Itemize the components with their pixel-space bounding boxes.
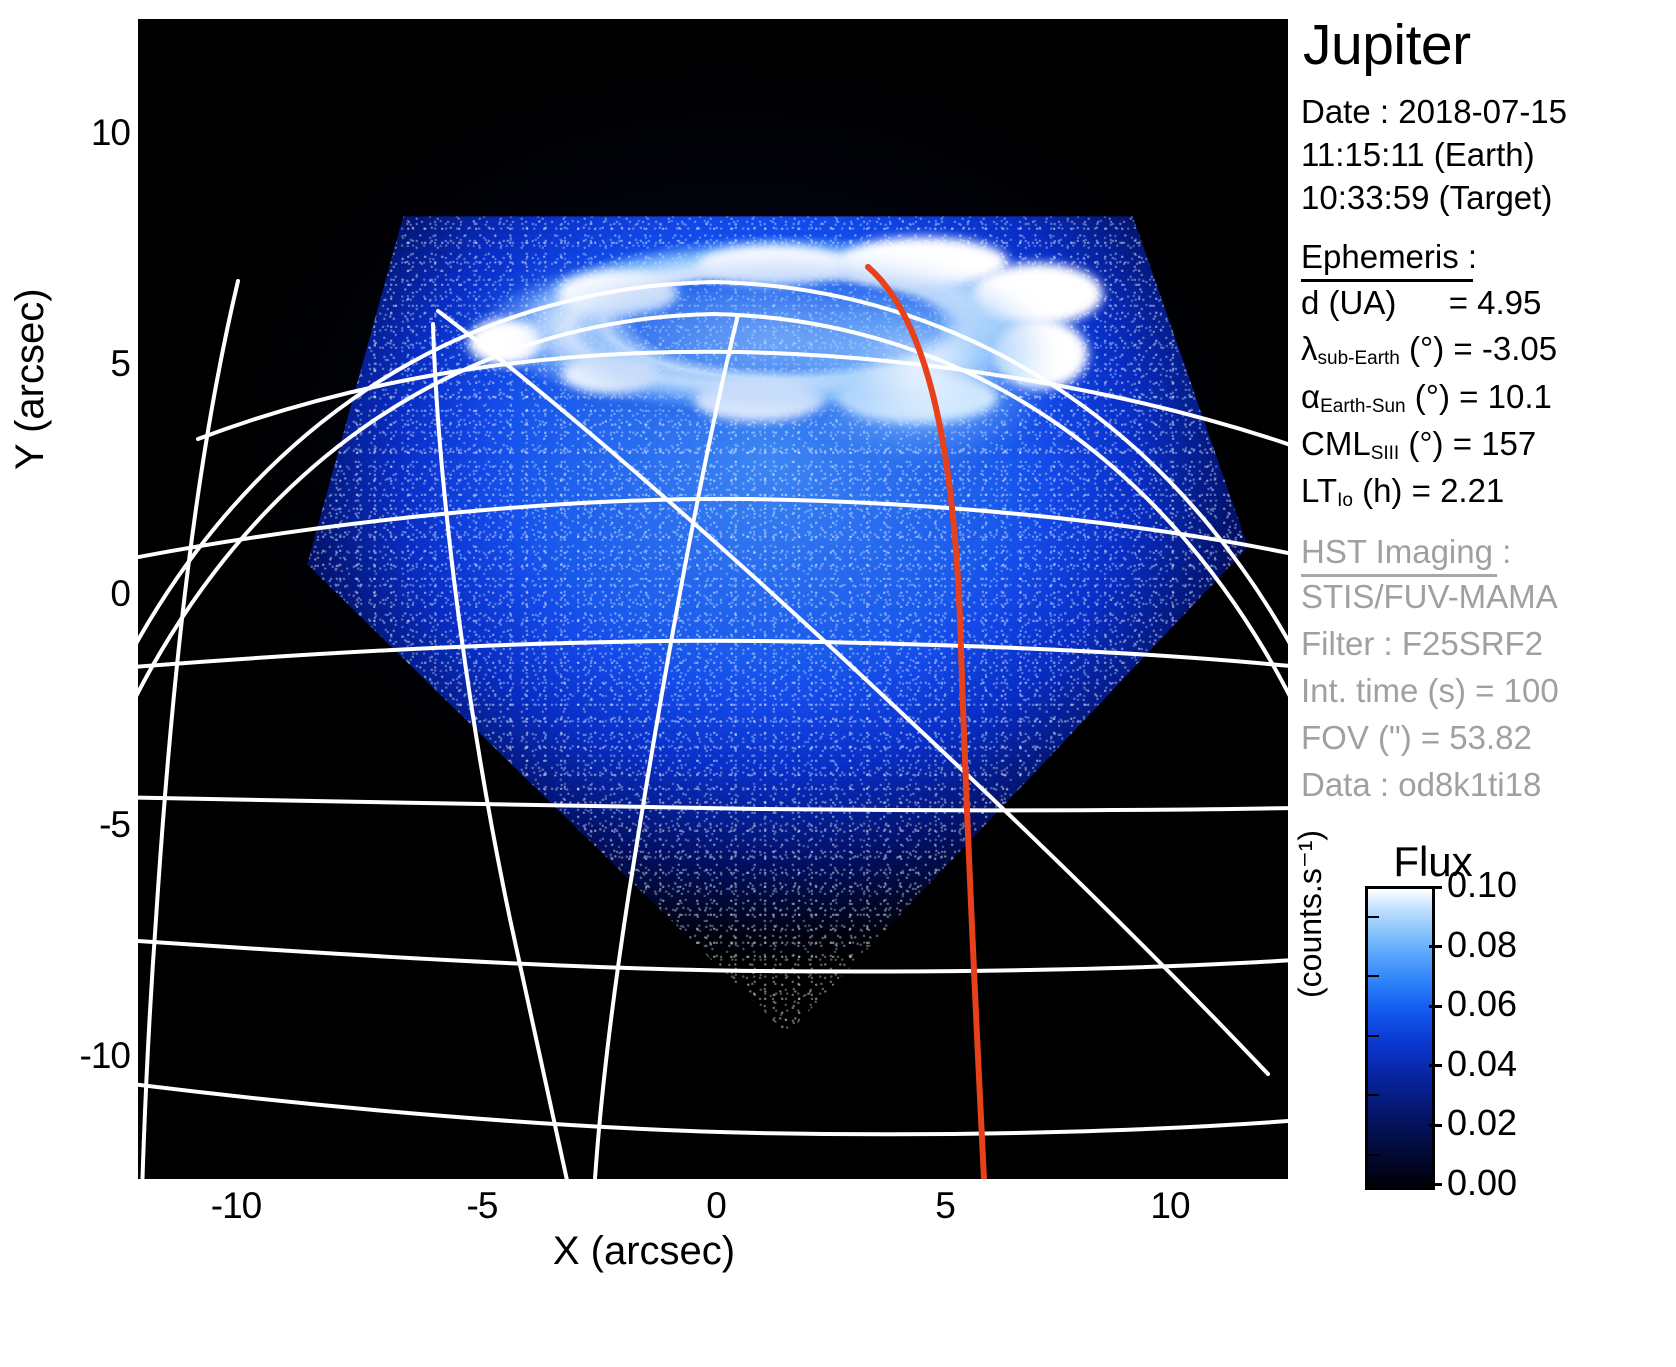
observation-time-earth: 11:15:11 (Earth) [1301,136,1535,174]
ephemeris-sep-alpha: = [1459,378,1478,415]
colorbar-minor-tick [1368,1094,1379,1096]
colorbar-tick-label: 0.06 [1447,983,1517,1025]
ephemeris-row-cml: CMLSIII (°) = 157 [1301,425,1536,465]
colorbar-tick [1429,886,1442,889]
x-tick-label: -10 [196,1185,276,1227]
x-tick-label: 0 [686,1185,746,1227]
x-tick-label: 5 [915,1185,975,1227]
ephemeris-value-cml: 157 [1481,425,1536,462]
ephemeris-sep-cml: = [1453,425,1472,462]
observation-time-target: 10:33:59 (Target) [1301,179,1552,217]
colorbar-minor-tick [1368,975,1379,977]
instrument-detector: STIS/FUV-MAMA [1301,578,1558,616]
y-tick-label: 5 [78,343,130,385]
colorbar-axis-title: (counts.s⁻¹) [1291,830,1329,998]
ephemeris-symbol-lt: LT [1301,472,1337,509]
ephemeris-value-d: 4.95 [1477,284,1541,321]
ephemeris-symbol-lambda: λ [1301,330,1318,367]
colorbar-minor-tick [1368,916,1379,918]
colorbar-tick [1429,945,1442,948]
ephemeris-sub-lt: Io [1337,490,1353,511]
ephemeris-heading: Ephemeris : [1301,238,1477,276]
ephemeris-value-alpha: 10.1 [1488,378,1552,415]
ephemeris-sub-alpha: Earth-Sun [1320,396,1406,417]
x-tick-label: -5 [447,1185,517,1227]
ephemeris-unit-lambda: (°) [1409,330,1444,367]
colorbar-tick-label: 0.00 [1447,1162,1517,1204]
colorbar-minor-tick [1368,1154,1379,1156]
colorbar-tick-label: 0.02 [1447,1102,1517,1144]
colorbar-gradient[interactable] [1365,886,1435,1190]
plot-image-area[interactable] [138,19,1288,1179]
instrument-rule [1301,574,1497,577]
ephemeris-symbol-cml: CML [1301,425,1371,462]
ephemeris-symbol-d: d [1301,284,1319,321]
ephemeris-rule [1301,279,1473,282]
ephemeris-unit-alpha: (°) [1415,378,1450,415]
instrument-integration-time: Int. time (s) = 100 [1301,672,1559,710]
observation-date: Date : 2018-07-15 [1301,93,1567,131]
ephemeris-sub-cml: SIII [1371,443,1400,464]
colorbar-tick-label: 0.04 [1447,1043,1517,1085]
ephemeris-sep-lambda: = [1453,330,1472,367]
x-axis-title: X (arcsec) [0,1229,1288,1274]
colorbar-tick [1429,1124,1442,1127]
y-tick-label: 10 [78,112,130,154]
colorbar-tick-label: 0.08 [1447,924,1517,966]
flux-colorbar-block: Flux (counts.s⁻¹) 0.10 0.08 0.06 0.04 0.… [1297,838,1676,1238]
instrument-heading: HST Imaging : [1301,533,1511,571]
ephemeris-row-lt: LTIo (h) = 2.21 [1301,472,1504,512]
instrument-fov: FOV (") = 53.82 [1301,719,1532,757]
ephemeris-unit-cml: (°) [1408,425,1443,462]
colorbar-tick-label: 0.10 [1447,864,1517,906]
ephemeris-sub-lambda: sub-Earth [1318,348,1400,369]
ephemeris-sep-d: = [1449,284,1468,321]
y-axis-title: Y (arcsec) [8,288,53,470]
y-tick-label: 0 [78,573,130,615]
colorbar-minor-tick [1368,1035,1379,1037]
ephemeris-symbol-alpha: α [1301,378,1320,415]
y-tick-label: -10 [47,1035,130,1077]
ephemeris-unit-lt: (h) [1362,472,1402,509]
ephemeris-row-lambda: λsub-Earth (°) = -3.05 [1301,330,1557,370]
ephemeris-sep-lt: = [1412,472,1431,509]
ephemeris-value-lt: 2.21 [1440,472,1504,509]
io-footprint-trace [138,19,1288,1179]
page-title: Jupiter [1303,12,1471,78]
colorbar-tick [1429,1064,1442,1067]
ephemeris-unit-d: (UA) [1329,284,1397,321]
ephemeris-row-alpha: αEarth-Sun (°) = 10.1 [1301,378,1552,418]
colorbar-tick [1429,1005,1442,1008]
instrument-dataset: Data : od8k1ti18 [1301,766,1541,804]
ephemeris-value-lambda: -3.05 [1482,330,1557,367]
instrument-filter: Filter : F25SRF2 [1301,625,1543,663]
colorbar-tick [1429,1183,1442,1186]
y-tick-label: -5 [60,804,130,846]
ephemeris-row-d: d (UA) = 4.95 [1301,284,1541,322]
x-tick-label: 10 [1130,1185,1210,1227]
